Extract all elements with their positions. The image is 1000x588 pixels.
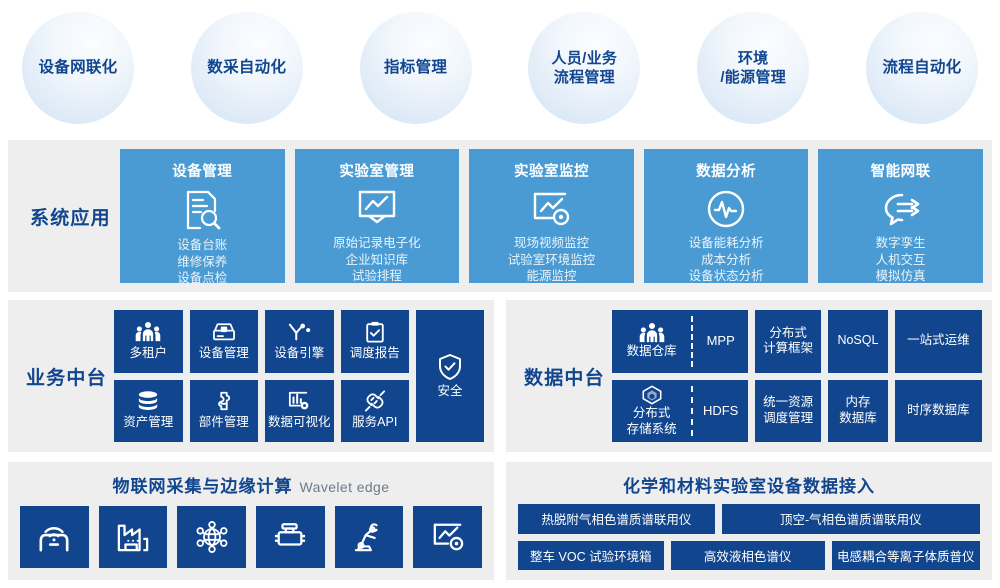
capability-circle-label: 指标管理: [384, 58, 447, 78]
tile-label: 安全: [437, 384, 462, 400]
capability-circle[interactable]: 指标管理: [360, 12, 472, 124]
dashed-divider: [691, 316, 693, 367]
tile-in-memory-database[interactable]: 内存 数据库: [828, 380, 888, 443]
tile-label: 内存 数据库: [839, 395, 877, 426]
tile-nosql[interactable]: NoSQL: [828, 310, 888, 373]
tile-label: NoSQL: [837, 333, 878, 349]
tile-device-engine[interactable]: 设备引擎: [265, 310, 334, 373]
capability-circle[interactable]: 数采自动化: [191, 12, 303, 124]
business-platform-grid: 多租户 设备管理: [114, 310, 409, 442]
tile-data-warehouse[interactable]: 数据仓库: [612, 310, 691, 373]
architecture-diagram: 设备网联化 数采自动化 指标管理 人员/业务 流程管理 环境 /能源管理 流程自…: [0, 0, 1000, 588]
data-platform-label-wrap: 数据中台: [524, 300, 620, 452]
tile-label: 统一资源 调度管理: [763, 395, 813, 426]
data-platform-panel: 数据中台: [506, 300, 992, 452]
capability-circles-row: 设备网联化 数采自动化 指标管理 人员/业务 流程管理 环境 /能源管理 流程自…: [0, 0, 1000, 136]
tile-timeseries-database[interactable]: 时序数据库: [895, 380, 982, 443]
iot-edge-panel: 物联网采集与边缘计算 Wavelet edge: [8, 462, 494, 580]
capability-circle-label: 数采自动化: [207, 58, 286, 78]
tile-label: 数据可视化: [268, 415, 331, 431]
tile-label: 部件管理: [199, 415, 249, 431]
lab-chip-hs-gcms[interactable]: 顶空-气相色谱质谱联用仪: [722, 504, 980, 534]
capability-circle-label: 人员/业务 流程管理: [552, 49, 618, 87]
dashed-divider: [691, 386, 693, 437]
puzzle-icon: [212, 390, 236, 412]
factory-icon: [116, 521, 150, 553]
app-card-lines: 现场视频监控 试验室环境监控 能源监控: [508, 235, 596, 285]
tile-security[interactable]: 安全: [416, 310, 484, 442]
iot-edge-icon-row: [20, 506, 482, 568]
tile-distributed-compute-framework[interactable]: 分布式 计算框架: [755, 310, 821, 373]
lab-chip-label: 顶空-气相色谱质谱联用仪: [780, 509, 922, 528]
tile-label: MPP: [707, 333, 735, 349]
iot-edge-subtitle: Wavelet edge: [300, 479, 390, 495]
tile-label: HDFS: [703, 403, 738, 419]
business-platform-row-2: 资产管理 部件管理: [114, 380, 409, 443]
business-platform-panel: 业务中台: [8, 300, 494, 452]
business-platform-row-1: 多租户 设备管理: [114, 310, 409, 373]
data-platform-row-1: 数据仓库 MPP 分布式 计算框架 NoSQL 一站式运维: [612, 310, 982, 373]
capability-circle-label: 环境 /能源管理: [720, 49, 786, 87]
lab-chip-label: 热脱附气相色谱质谱联用仪: [541, 509, 691, 528]
tile-asset-management[interactable]: 资产管理: [114, 380, 183, 443]
tile-label: 时序数据库: [907, 403, 970, 419]
robot-arm-icon: [352, 521, 386, 553]
lab-chip-rows: 热脱附气相色谱质谱联用仪 顶空-气相色谱质谱联用仪 整车 VOC 试验环境箱 高…: [518, 504, 980, 570]
globe-network-icon: [195, 521, 229, 553]
tile-multi-tenant[interactable]: 多租户: [114, 310, 183, 373]
lab-data-access-title: 化学和材料实验室设备数据接入: [623, 472, 875, 497]
lab-chip-row-1: 热脱附气相色谱质谱联用仪 顶空-气相色谱质谱联用仪: [518, 504, 980, 534]
iot-tile-robot-arm[interactable]: [335, 506, 404, 568]
sensor-device-icon: [273, 521, 307, 553]
tile-label: 分布式 存储系统: [627, 406, 677, 437]
system-application-title: 系统应用: [30, 203, 111, 230]
app-card-title: 智能网联: [871, 160, 931, 181]
capability-circle-label: 设备网联化: [38, 58, 117, 78]
wifi-gateway-icon: [37, 521, 71, 553]
app-card-data-analysis[interactable]: 数据分析 设备能耗分析 成本分析 设备状态分析: [644, 149, 809, 283]
app-card-lines: 设备能耗分析 成本分析 设备状态分析: [689, 235, 764, 285]
document-search-icon: [182, 189, 222, 231]
pulse-circle-icon: [706, 189, 746, 229]
data-platform-body: 数据仓库 MPP 分布式 计算框架 NoSQL 一站式运维: [612, 310, 982, 442]
lab-chip-row-2: 整车 VOC 试验环境箱 高效液相色谱仪 电感耦合等离子体质普仪: [518, 541, 980, 571]
presentation-chart-icon: [356, 189, 398, 229]
tile-label: 服务API: [352, 415, 397, 431]
multi-tenant-icon: [639, 322, 665, 344]
speech-connect-icon: [880, 189, 922, 229]
iot-tile-monitoring[interactable]: [413, 506, 482, 568]
iot-tile-sensor-device[interactable]: [256, 506, 325, 568]
iot-tile-gateway[interactable]: [20, 506, 89, 568]
lab-chip-voc-chamber[interactable]: 整车 VOC 试验环境箱: [518, 541, 664, 571]
app-card-title: 设备管理: [172, 160, 232, 181]
lab-chip-icp-ms[interactable]: 电感耦合等离子体质普仪: [832, 541, 980, 571]
tile-unified-resource-scheduling[interactable]: 统一资源 调度管理: [755, 380, 821, 443]
lab-chip-label: 整车 VOC 试验环境箱: [530, 546, 652, 565]
tile-data-visualization[interactable]: 数据可视化: [265, 380, 334, 443]
capability-circle[interactable]: 流程自动化: [866, 12, 978, 124]
tile-device-management[interactable]: 设备管理: [190, 310, 259, 373]
system-application-cards: 设备管理 设备台账 维修保养 设备点检 实验室管理: [120, 149, 983, 283]
monitor-chart-icon: [530, 189, 572, 229]
business-platform-title: 业务中台: [26, 363, 107, 390]
capability-circle[interactable]: 人员/业务 流程管理: [528, 12, 640, 124]
tile-label: 资产管理: [123, 415, 173, 431]
node-graph-icon: [286, 321, 312, 343]
tile-label: 多租户: [129, 346, 167, 362]
tile-distributed-storage-hdfs[interactable]: 分布式 存储系统 HDFS: [612, 380, 748, 443]
shield-check-icon: [437, 353, 463, 381]
iot-tile-factory[interactable]: [99, 506, 168, 568]
app-card-intelligent-connectivity[interactable]: 智能网联 数字孪生 人机交互 模拟仿真: [818, 149, 983, 283]
database-coins-icon: [136, 390, 160, 412]
tile-distributed-storage[interactable]: 分布式 存储系统: [612, 380, 691, 443]
app-card-device-management[interactable]: 设备管理 设备台账 维修保养 设备点检: [120, 149, 285, 283]
iot-edge-title: 物联网采集与边缘计算: [113, 472, 293, 497]
iot-edge-header: 物联网采集与边缘计算 Wavelet edge: [8, 472, 494, 497]
lab-chip-label: 电感耦合等离子体质普仪: [837, 546, 975, 565]
tile-data-warehouse-mpp[interactable]: 数据仓库 MPP: [612, 310, 748, 373]
tile-label: 设备管理: [199, 346, 249, 362]
app-card-lines: 数字孪生 人机交互 模拟仿真: [876, 235, 926, 285]
app-card-lab-management[interactable]: 实验室管理 原始记录电子化 企业知识库 试验排程: [295, 149, 460, 283]
tile-label: 设备引擎: [274, 346, 324, 362]
tile-schedule-report[interactable]: 调度报告: [341, 310, 410, 373]
app-card-lines: 设备台账 维修保养 设备点检: [177, 237, 227, 287]
chart-eye-icon: [287, 390, 311, 412]
app-card-title: 数据分析: [696, 160, 756, 181]
tile-label: 调度报告: [350, 346, 400, 362]
data-platform-grid: 数据仓库 MPP 分布式 计算框架 NoSQL 一站式运维: [612, 310, 982, 442]
app-card-title: 实验室监控: [514, 160, 589, 181]
tile-one-stop-ops[interactable]: 一站式运维: [895, 310, 982, 373]
tile-label: 一站式运维: [907, 333, 970, 349]
lab-data-access-header: 化学和材料实验室设备数据接入: [506, 472, 992, 497]
tile-label: 分布式 计算框架: [763, 326, 813, 357]
app-card-lab-monitoring[interactable]: 实验室监控 现场视频监控 试验室环境监控 能源监控: [469, 149, 634, 283]
lab-chip-label: 高效液相色谱仪: [704, 546, 792, 565]
api-plug-icon: [363, 390, 387, 412]
data-platform-title: 数据中台: [524, 363, 605, 390]
clipboard-check-icon: [364, 321, 386, 343]
capability-circle[interactable]: 环境 /能源管理: [697, 12, 809, 124]
business-platform-body: 多租户 设备管理: [114, 310, 484, 442]
app-card-title: 实验室管理: [339, 160, 414, 181]
lab-chip-td-gcms[interactable]: 热脱附气相色谱质谱联用仪: [518, 504, 715, 534]
tile-hdfs[interactable]: HDFS: [693, 380, 748, 443]
app-card-lines: 原始记录电子化 企业知识库 试验排程: [333, 235, 421, 285]
monitor-chart-icon: [431, 521, 465, 553]
tile-mpp[interactable]: MPP: [693, 310, 748, 373]
tile-service-api[interactable]: 服务API: [341, 380, 410, 443]
tile-label: 数据仓库: [627, 344, 677, 360]
capability-circle-label: 流程自动化: [882, 58, 961, 78]
iot-tile-network[interactable]: [177, 506, 246, 568]
lab-data-access-panel: 化学和材料实验室设备数据接入 热脱附气相色谱质谱联用仪 顶空-气相色谱质谱联用仪…: [506, 462, 992, 580]
capability-circle[interactable]: 设备网联化: [22, 12, 134, 124]
lab-chip-hplc[interactable]: 高效液相色谱仪: [671, 541, 825, 571]
cube-network-icon: [640, 384, 664, 406]
business-platform-label-wrap: 业务中台: [26, 300, 122, 452]
device-box-icon: [211, 321, 237, 343]
multi-tenant-icon: [135, 321, 161, 343]
tile-component-management[interactable]: 部件管理: [190, 380, 259, 443]
system-application-panel: 系统应用 设备管理 设备台账 维修保养 设备点检 实验室管理: [8, 140, 992, 292]
data-platform-row-2: 分布式 存储系统 HDFS 统一资源 调度管理 内存 数据库 时: [612, 380, 982, 443]
